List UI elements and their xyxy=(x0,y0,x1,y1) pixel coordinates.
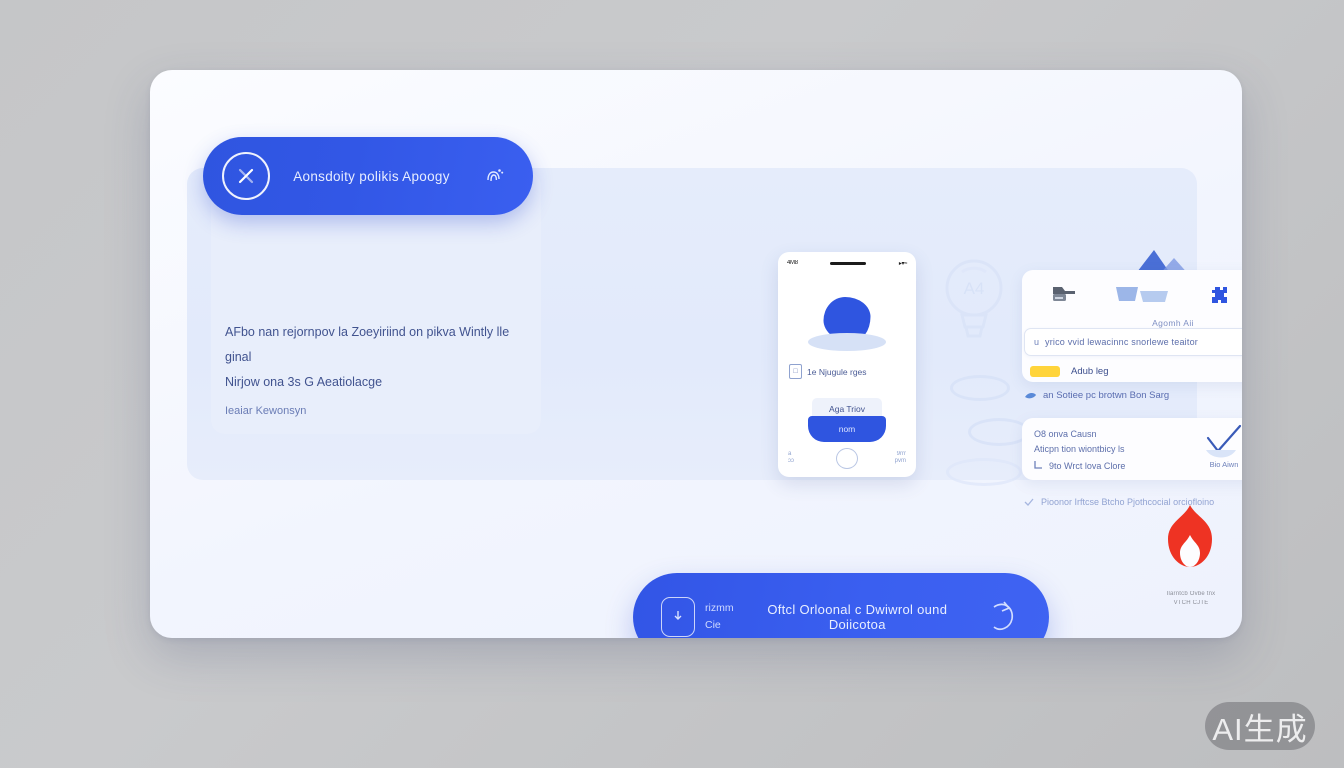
detail-line-2: Aticpn tion wiontbicy ls xyxy=(1034,442,1194,457)
scan-doc-icon xyxy=(661,597,695,637)
cta-main-label: Oftcl Orloonal c Dwiwrol ound Doiicotoa xyxy=(734,602,981,632)
mid-note: an Sotiee pc brotwn Bon Sarg xyxy=(1024,390,1169,401)
brand-caption-line-1: Ilarntcb Ovbe tnx xyxy=(1136,590,1246,599)
document-icon: □ xyxy=(789,364,802,379)
status-badge xyxy=(1030,366,1060,377)
detail-line-1: O8 onva Causn xyxy=(1034,427,1194,442)
body-line-1: AFbo nan rejornpov la Zoeyiriind on pikv… xyxy=(225,320,535,370)
folder-tag-icon[interactable] xyxy=(1051,284,1077,311)
field-prefix-icon: u xyxy=(1034,337,1039,347)
avatar-shadow xyxy=(808,333,886,351)
layers-stack-icon[interactable] xyxy=(1114,283,1172,312)
phone-mockup: 4M8 ▸▾≈ □ 1e Njugule rges Aga Triov nom … xyxy=(778,252,916,477)
detail-lines: O8 onva Causn Aticpn tion wiontbicy ls xyxy=(1034,427,1194,457)
ai-generated-watermark: AI生成 xyxy=(1205,702,1315,750)
nav-left-label[interactable]: aɔɔ xyxy=(788,451,808,465)
rotate-arrow-icon xyxy=(981,593,1023,638)
status-indicators: ▸▾≈ xyxy=(899,260,907,267)
puzzle-piece-icon[interactable] xyxy=(1209,284,1231,311)
badge-row: Adub leg xyxy=(1030,362,1242,380)
detail-line-3: 9to Wrct lova Clore xyxy=(1049,461,1125,471)
left-feature-card: Aonsdoity polikis Apoogy AFbo nan rejorn… xyxy=(211,172,541,434)
detail-line-3-row: 9to Wrct lova Clore xyxy=(1034,460,1125,471)
phone-caption-text: 1e Njugule rges xyxy=(807,367,867,377)
fingerprint-icon xyxy=(473,156,513,196)
main-card: Clie dap imry Cornetio of Jiues Svarauca… xyxy=(150,70,1242,638)
detail-card: O8 onva Causn Aticpn tion wiontbicy ls 9… xyxy=(1022,418,1242,480)
check-label: Bio Aiwn xyxy=(1194,460,1242,469)
no-entry-slash-icon xyxy=(222,152,270,200)
badge-label: Adub leg xyxy=(1071,366,1109,377)
cta-left-line-1: rizmm xyxy=(705,600,734,617)
nav-right-label[interactable]: 9rrrpvm xyxy=(886,451,906,465)
screenshot-root: Clie dap imry Cornetio of Jiues Svarauca… xyxy=(0,0,1344,768)
check-small-icon xyxy=(1024,498,1034,506)
checkmark-icon xyxy=(1200,424,1242,458)
left-body-copy: AFbo nan rejornpov la Zoeyiriind on pikv… xyxy=(225,320,535,424)
settings-card: Agomh Aii u yrico vvid lewacinnc snorlew… xyxy=(1022,270,1242,382)
phone-status-bar: 4M8 ▸▾≈ xyxy=(778,252,916,274)
icon-row-label: Agomh Aii xyxy=(1022,318,1242,328)
home-circle-icon[interactable] xyxy=(836,448,858,469)
phone-notch xyxy=(830,262,866,265)
brand-caption-line-2: VTCH CJTE xyxy=(1136,599,1246,608)
phone-primary-button[interactable]: nom xyxy=(808,416,886,442)
brand-caption: Ilarntcb Ovbe tnx VTCH CJTE xyxy=(1136,590,1246,608)
primary-action-label: Aonsdoity polikis Apoogy xyxy=(270,169,473,184)
body-line-2: Nirjow ona 3s G Aeatiolacge xyxy=(225,370,535,395)
field-value: yrico vvid lewacinnc snorlewe teaitor xyxy=(1045,337,1242,347)
card-icon-row xyxy=(1022,276,1242,318)
status-time: 4M8 xyxy=(787,260,798,266)
phone-bottom-nav: aɔɔ 9rrrpvm xyxy=(778,445,916,471)
left-sub-line: Ieaiar Kewonsyn xyxy=(225,399,535,424)
primary-action-pill[interactable]: Aonsdoity polikis Apoogy xyxy=(203,137,533,215)
mid-note-text: an Sotiee pc brotwn Bon Sarg xyxy=(1043,390,1169,401)
cta-left-labels: rizmm Cie xyxy=(705,600,734,634)
corner-arrow-icon xyxy=(1034,460,1043,471)
phone-caption: □ 1e Njugule rges xyxy=(789,364,908,379)
cta-left-line-2: Cie xyxy=(705,617,734,634)
flame-logo-icon xyxy=(1160,505,1220,573)
search-input[interactable]: u yrico vvid lewacinnc snorlewe teaitor xyxy=(1024,328,1242,356)
leaf-icon xyxy=(1024,391,1037,401)
download-cta-button[interactable]: rizmm Cie Oftcl Orloonal c Dwiwrol ound … xyxy=(633,573,1049,638)
